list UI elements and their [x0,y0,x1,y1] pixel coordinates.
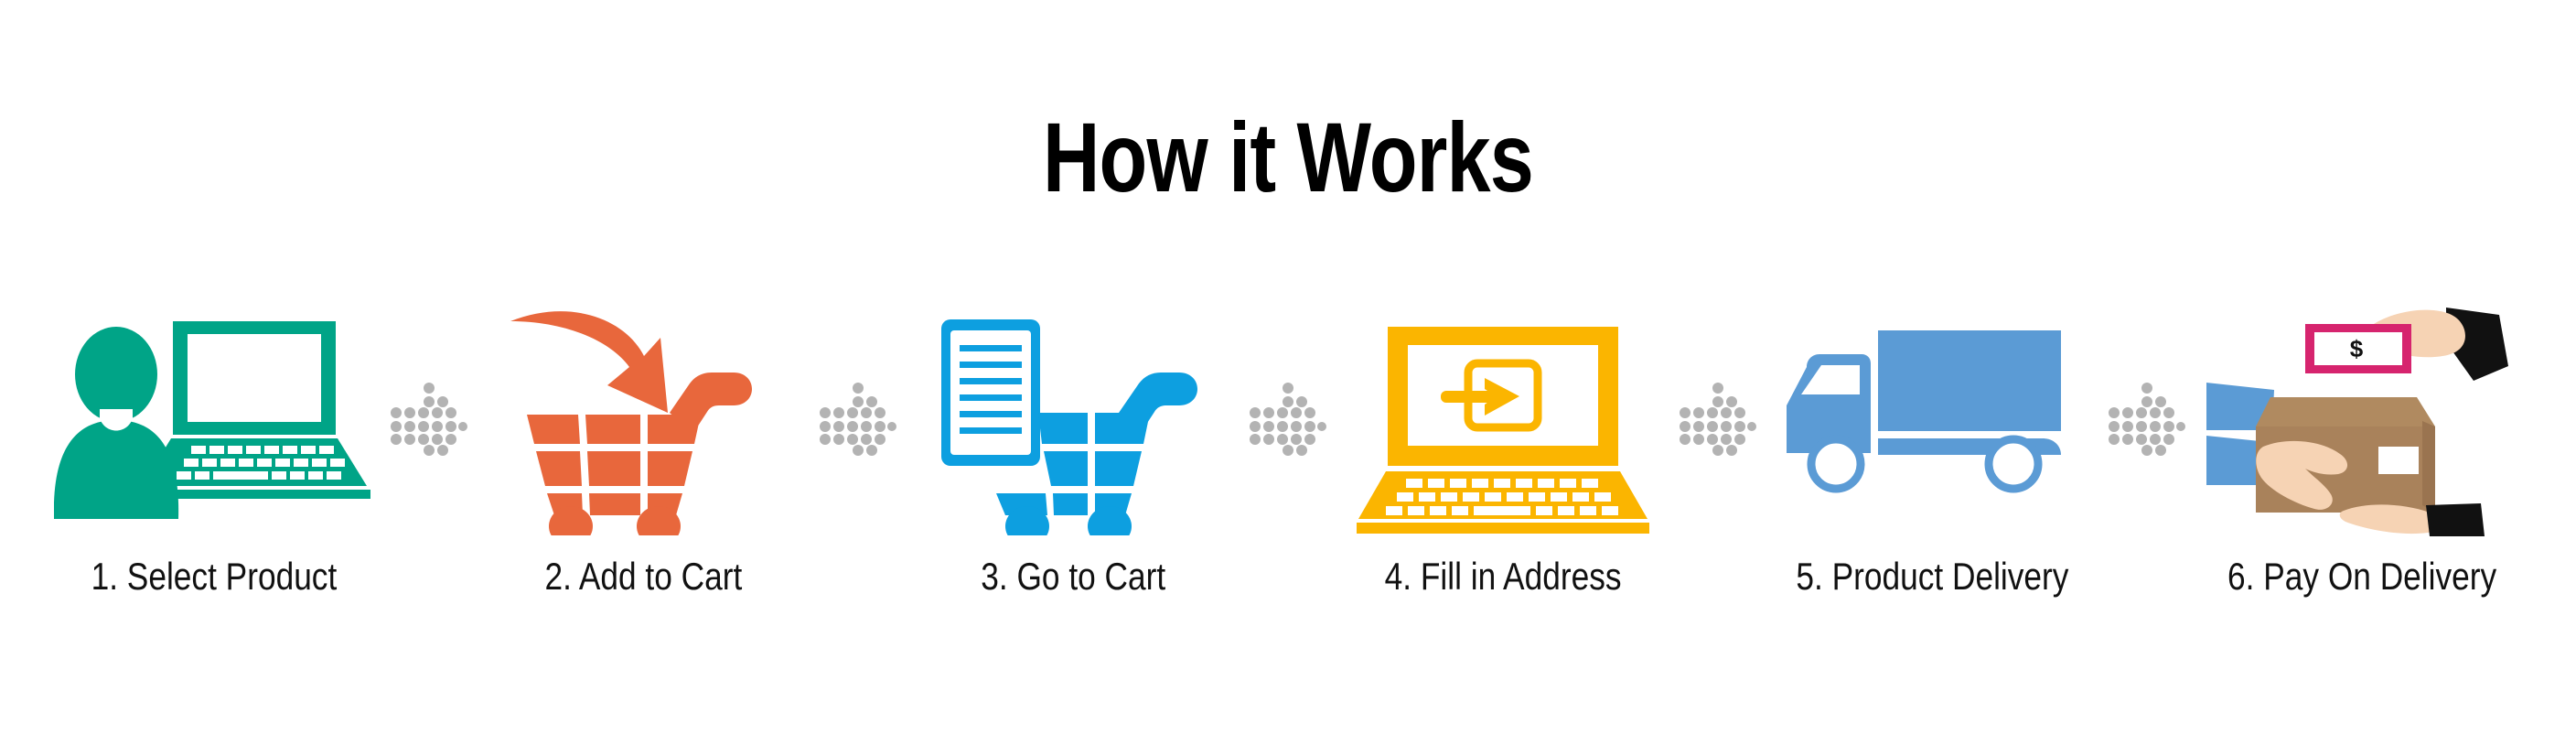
document-with-cart-icon [903,302,1243,540]
step-2-add-to-cart[interactable]: 2. Add to Cart [474,302,814,597]
step-3-label: 3. Go to Cart [981,556,1165,597]
how-it-works-infographic: How it Works [0,0,2576,745]
page-title: How it Works [258,108,2319,207]
bill-dollar-symbol: $ [2350,335,2364,362]
delivery-truck-icon [1762,302,2102,540]
step-1-select-product[interactable]: 1. Select Product [44,302,384,597]
dotted-right-arrow-icon-4 [1674,302,1762,540]
person-with-laptop-icon [44,302,384,540]
dotted-right-arrow-icon-3 [1244,302,1332,540]
steps-row: 1. Select Product [44,302,2532,659]
step-5-product-delivery[interactable]: 5. Product Delivery [1762,302,2102,597]
step-6-label: 6. Pay On Delivery [2227,556,2496,597]
hands-exchange-box-and-money-icon: $ [2192,302,2532,540]
dotted-right-arrow-icon-1 [385,302,473,540]
laptop-login-icon [1333,302,1673,540]
step-3-go-to-cart[interactable]: 3. Go to Cart [903,302,1243,597]
cart-with-arrow-icon [474,302,814,540]
dotted-right-arrow-icon-5 [2103,302,2191,540]
step-6-pay-on-delivery[interactable]: $ [2192,302,2532,597]
step-4-label: 4. Fill in Address [1384,556,1621,597]
step-4-fill-in-address[interactable]: 4. Fill in Address [1333,302,1673,597]
step-2-label: 2. Add to Cart [545,556,743,597]
dotted-right-arrow-icon-2 [814,302,902,540]
step-1-label: 1. Select Product [91,556,338,597]
step-5-label: 5. Product Delivery [1796,556,2068,597]
